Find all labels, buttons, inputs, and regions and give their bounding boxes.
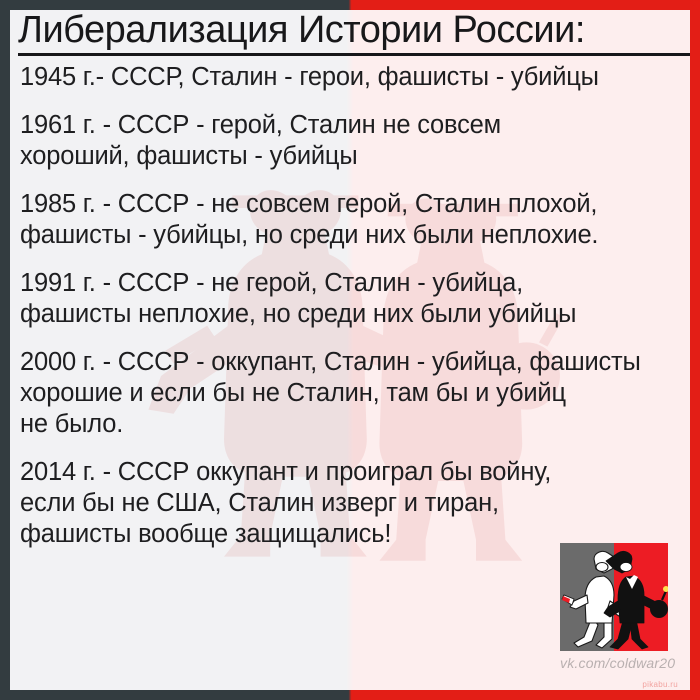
entry-2000: 2000 г. - СССР - оккупант, Сталин - убий… (20, 347, 686, 440)
entry-line: хорошие и если бы не Сталин, там бы и уб… (20, 378, 686, 409)
entry-1991: 1991 г. - СССР - не герой, Сталин - убий… (20, 268, 686, 330)
entry-line: хороший, фашисты - убийцы (20, 141, 686, 172)
community-logo[interactable]: vk.com/coldwar20 (560, 543, 670, 671)
frame-border-right (690, 0, 700, 700)
frame-border-bottom (0, 690, 700, 700)
entry-line: если бы не США, Сталин изверг и тиран, (20, 488, 686, 519)
entry-line: фашисты - убийцы, но среди них были непл… (20, 220, 686, 251)
frame-border-left (0, 0, 10, 700)
entry-line: не было. (20, 409, 686, 440)
entry-1961: 1961 г. - СССР - герой, Сталин не совсем… (20, 110, 686, 172)
entry-line: 1945 г.- СССР, Сталин - герои, фашисты -… (20, 62, 686, 93)
logo-caption: vk.com/coldwar20 (560, 655, 670, 671)
entry-line: 1991 г. - СССР - не герой, Сталин - убий… (20, 268, 686, 299)
entry-1945: 1945 г.- СССР, Сталин - герои, фашисты -… (20, 62, 686, 93)
page-title: Либерализация Истории России: (18, 8, 690, 52)
entry-line: фашисты неплохие, но среди них были убий… (20, 299, 686, 330)
entry-line: 1961 г. - СССР - герой, Сталин не совсем (20, 110, 686, 141)
title-underline (18, 53, 690, 56)
spy-vs-spy-handshake-icon (560, 543, 668, 651)
entry-line: 2000 г. - СССР - оккупант, Сталин - убий… (20, 347, 686, 378)
source-watermark: pikabu.ru (642, 680, 678, 689)
entry-2014: 2014 г. - СССР оккупант и проиграл бы во… (20, 457, 686, 550)
entry-line: 2014 г. - СССР оккупант и проиграл бы во… (20, 457, 686, 488)
meme-image: Либерализация Истории России: 1945 г.- С… (0, 0, 700, 700)
timeline-entries: 1945 г.- СССР, Сталин - герои, фашисты -… (20, 62, 686, 567)
meme-content: Либерализация Истории России: 1945 г.- С… (10, 10, 690, 690)
entry-line: 1985 г. - СССР - не совсем герой, Сталин… (20, 189, 686, 220)
entry-1985: 1985 г. - СССР - не совсем герой, Сталин… (20, 189, 686, 251)
